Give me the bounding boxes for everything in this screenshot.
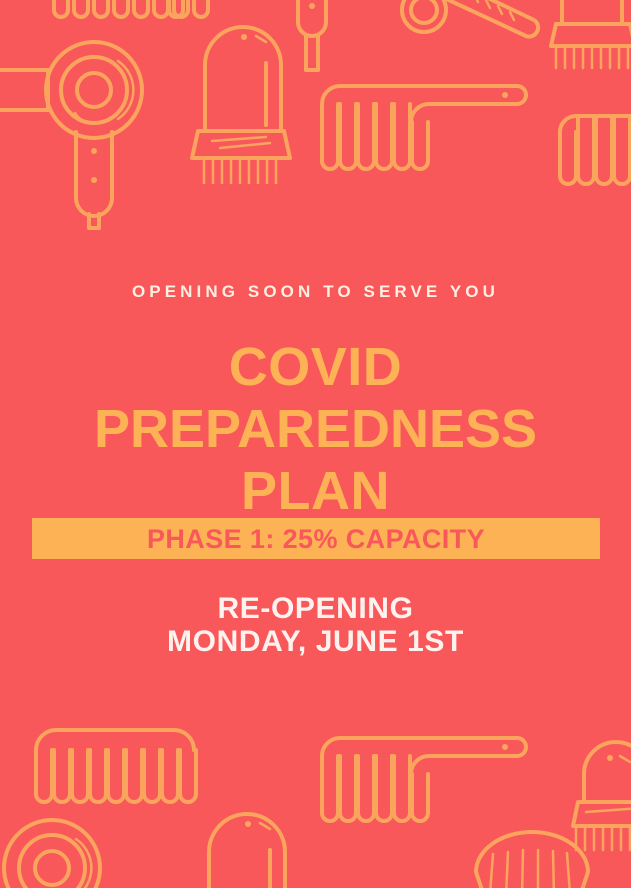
phase-banner: PHASE 1: 25% CAPACITY: [32, 518, 600, 559]
poster-content: OPENING SOON TO SERVE YOU COVID PREPARED…: [0, 0, 631, 888]
phase-banner-label: PHASE 1: 25% CAPACITY: [147, 524, 485, 554]
headline-line-1: COVID: [0, 336, 631, 398]
headline-line-2: PREPAREDNESS: [0, 398, 631, 460]
reopening-info: RE-OPENING MONDAY, JUNE 1ST: [0, 592, 631, 658]
tagline: OPENING SOON TO SERVE YOU: [0, 281, 631, 303]
poster-canvas: OPENING SOON TO SERVE YOU COVID PREPARED…: [0, 0, 631, 888]
reopening-date: MONDAY, JUNE 1ST: [0, 625, 631, 658]
page-title: COVID PREPAREDNESS PLAN: [0, 336, 631, 522]
headline-line-3: PLAN: [0, 460, 631, 522]
reopening-heading: RE-OPENING: [0, 592, 631, 625]
